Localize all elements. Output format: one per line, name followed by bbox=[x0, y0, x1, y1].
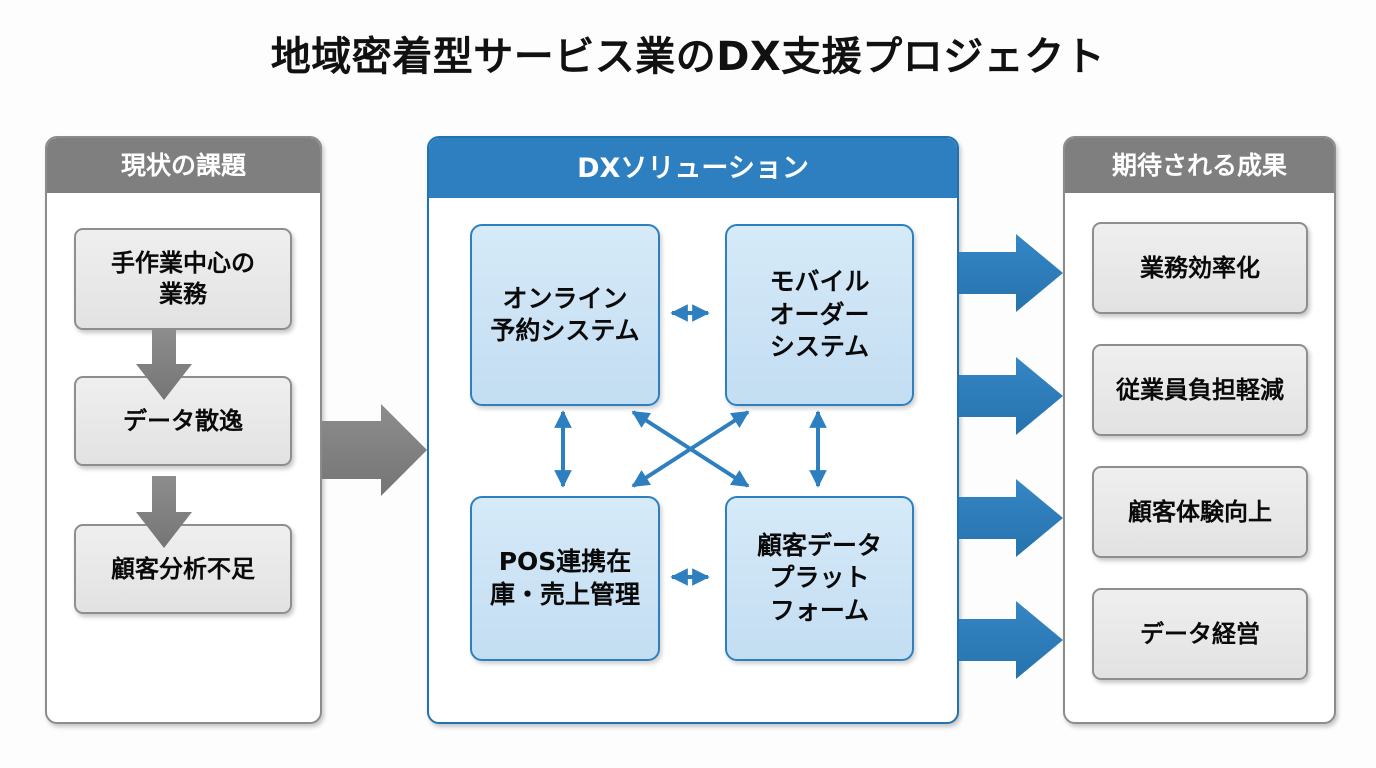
left-item-label-2: 顧客分析不足 bbox=[111, 554, 255, 585]
left-to-center-arrow bbox=[322, 404, 427, 496]
panel-center-header: DXソリューション bbox=[429, 138, 957, 198]
panel-left-header: 現状の課題 bbox=[47, 138, 320, 193]
right-item-box-0[interactable]: 業務効率化 bbox=[1092, 222, 1308, 314]
center-to-right-arrow-3 bbox=[959, 601, 1063, 679]
panel-right-header: 期待される成果 bbox=[1065, 138, 1334, 193]
left-item-label-1: データ散逸 bbox=[123, 406, 243, 437]
panel-dx-solutions: DXソリューション オンライン 予約システム モバイル オーダー システム PO… bbox=[427, 136, 959, 724]
center-item-label-2: POS連携在 庫・売上管理 bbox=[490, 546, 640, 611]
center-to-right-arrow-2 bbox=[959, 479, 1063, 557]
center-item-box-customer-data-platform[interactable]: 顧客データ プラット フォーム bbox=[725, 496, 914, 661]
page-title: 地域密着型サービス業のDX支援プロジェクト bbox=[0, 24, 1376, 82]
right-item-label-3: データ経営 bbox=[1140, 619, 1260, 650]
center-item-label-3: 顧客データ プラット フォーム bbox=[757, 530, 882, 628]
right-item-label-1: 従業員負担軽減 bbox=[1116, 375, 1284, 406]
diagram-canvas: 地域密着型サービス業のDX支援プロジェクト 現状の課題 手作業中心の 業務 デー… bbox=[0, 0, 1376, 768]
center-item-box-online-reservation[interactable]: オンライン 予約システム bbox=[470, 224, 660, 406]
left-item-label-0: 手作業中心の 業務 bbox=[111, 248, 255, 309]
left-item-box-1[interactable]: データ散逸 bbox=[74, 376, 292, 466]
center-item-box-mobile-order[interactable]: モバイル オーダー システム bbox=[725, 224, 914, 406]
center-to-right-arrow-1 bbox=[959, 357, 1063, 435]
panel-expected-outcomes: 期待される成果 業務効率化 従業員負担軽減 顧客体験向上 データ経営 bbox=[1063, 136, 1336, 724]
right-item-box-1[interactable]: 従業員負担軽減 bbox=[1092, 344, 1308, 436]
right-item-box-3[interactable]: データ経営 bbox=[1092, 588, 1308, 680]
right-item-label-2: 顧客体験向上 bbox=[1128, 497, 1272, 528]
center-item-box-pos-inventory[interactable]: POS連携在 庫・売上管理 bbox=[470, 496, 660, 661]
right-item-box-2[interactable]: 顧客体験向上 bbox=[1092, 466, 1308, 558]
left-item-box-0[interactable]: 手作業中心の 業務 bbox=[74, 228, 292, 330]
center-item-label-1: モバイル オーダー システム bbox=[769, 266, 869, 364]
left-item-box-2[interactable]: 顧客分析不足 bbox=[74, 524, 292, 614]
right-item-label-0: 業務効率化 bbox=[1140, 253, 1260, 284]
panel-current-issues: 現状の課題 手作業中心の 業務 データ散逸 顧客分析不足 bbox=[45, 136, 322, 724]
center-item-label-0: オンライン 予約システム bbox=[490, 283, 639, 348]
center-to-right-arrow-0 bbox=[959, 234, 1063, 312]
